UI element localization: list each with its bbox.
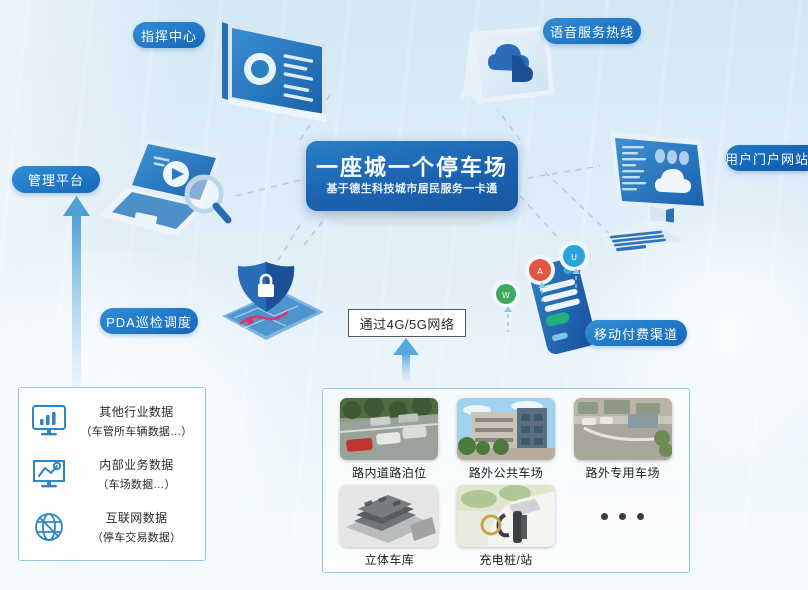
scene-caption: 充电桩/站 xyxy=(479,551,532,568)
banner-title: 一座城一个停车场 xyxy=(316,157,508,179)
center-banner: 一座城一个停车场 基于德生科技城市居民服务一卡通 xyxy=(306,141,518,211)
scene-caption: 立体车库 xyxy=(365,551,415,568)
scene-caption: 路内道路泊位 xyxy=(352,464,426,481)
data-source-title: 内部业务数据 xyxy=(99,456,173,473)
label-user-portal[interactable]: 用户门户网站 xyxy=(726,145,808,171)
shield-lock-map-icon xyxy=(214,256,332,348)
data-source-text: 其他行业数据 （车管所车辆数据…） xyxy=(78,403,195,439)
svg-text:A: A xyxy=(537,267,543,276)
scene-item-more xyxy=(568,485,677,568)
banner-subtitle: 基于德生科技城市居民服务一卡通 xyxy=(327,184,498,195)
data-source-row[interactable]: 内部业务数据 （车场数据…） xyxy=(19,456,205,492)
label-voice-hotline[interactable]: 语音服务热线 xyxy=(543,18,641,44)
off-street-public-lot-photo xyxy=(457,398,555,460)
parking-scenes-grid: 路内道路泊位 路外公共车场 xyxy=(335,398,677,568)
scene-item[interactable]: 立体车库 xyxy=(335,485,444,568)
scene-caption: 路外专用车场 xyxy=(585,464,659,481)
data-source-title: 其他行业数据 xyxy=(99,403,173,420)
scene-item[interactable]: 充电桩/站 xyxy=(452,485,561,568)
data-source-row[interactable]: 互联网数据 （停车交易数据） xyxy=(19,509,205,545)
data-source-text: 互联网数据 （停车交易数据） xyxy=(78,509,195,545)
svg-text:U: U xyxy=(571,253,577,262)
label-user-portal-text: 用户门户网站 xyxy=(725,149,808,168)
svg-text:W: W xyxy=(502,291,510,300)
monitor-bar-chart-icon xyxy=(29,403,69,439)
multi-level-garage-photo xyxy=(340,485,438,547)
on-street-parking-photo xyxy=(340,398,438,460)
globe-network-icon xyxy=(29,509,69,545)
union-pay-app-icon: U xyxy=(559,241,589,271)
laptop-media-magnifier-icon xyxy=(92,132,234,240)
scene-item[interactable]: 路外专用车场 xyxy=(568,398,677,481)
off-street-private-lot-photo xyxy=(574,398,672,460)
label-mobile-payment-text: 移动付费渠道 xyxy=(594,324,678,343)
scene-item[interactable]: 路外公共车场 xyxy=(452,398,561,481)
label-network-text: 通过4G/5G网络 xyxy=(360,314,455,333)
network-up-arrow-icon xyxy=(390,338,422,384)
scene-caption: 路外公共车场 xyxy=(469,464,543,481)
label-management-platform-text: 管理平台 xyxy=(28,170,84,189)
label-voice-hotline-text: 语音服务热线 xyxy=(550,22,634,41)
parking-scenes-panel: 路内道路泊位 路外公共车场 xyxy=(322,388,690,573)
alipay-app-icon: A xyxy=(525,255,555,285)
label-command-center[interactable]: 指挥中心 xyxy=(133,22,205,48)
label-management-platform[interactable]: 管理平台 xyxy=(12,166,100,193)
data-source-title: 互联网数据 xyxy=(105,509,167,526)
scene-item[interactable]: 路内道路泊位 xyxy=(335,398,444,481)
label-network: 通过4G/5G网络 xyxy=(348,309,466,337)
data-source-text: 内部业务数据 （车场数据…） xyxy=(78,456,195,492)
label-mobile-payment[interactable]: 移动付费渠道 xyxy=(585,320,687,346)
label-pda-dispatch-text: PDA巡检调度 xyxy=(106,312,192,331)
label-pda-dispatch[interactable]: PDA巡检调度 xyxy=(100,308,198,334)
data-source-detail: （车场数据…） xyxy=(97,476,175,492)
ellipsis-dots xyxy=(601,485,644,547)
label-command-center-text: 指挥中心 xyxy=(141,26,197,45)
infographic-canvas: W A U 一座城一个停车场 基于德生科技城市居民服务一卡 xyxy=(0,0,808,590)
ev-charging-station-photo xyxy=(457,485,555,547)
wechat-pay-app-icon: W xyxy=(492,280,520,308)
data-sources-panel: 其他行业数据 （车管所车辆数据…） 内部业务数据 （车场数据…） xyxy=(18,387,206,561)
data-up-arrow-icon xyxy=(62,196,92,388)
data-source-detail: （车管所车辆数据…） xyxy=(81,423,193,439)
monitor-line-chart-icon xyxy=(29,456,69,492)
data-source-detail: （停车交易数据） xyxy=(92,529,182,545)
data-source-row[interactable]: 其他行业数据 （车管所车辆数据…） xyxy=(19,403,205,439)
